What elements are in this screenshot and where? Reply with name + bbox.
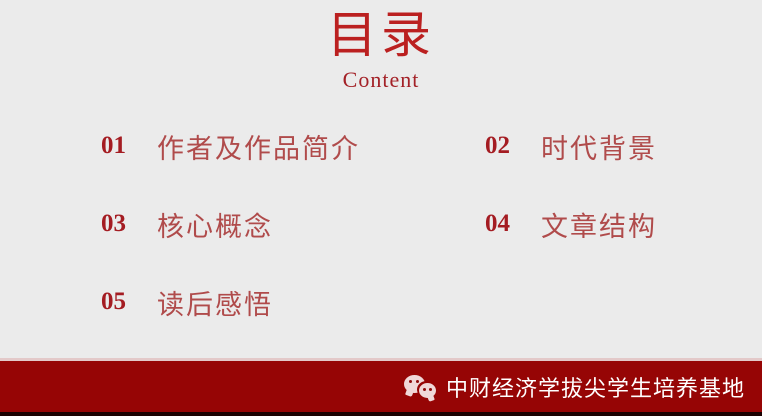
toc-item-number: 01 bbox=[101, 132, 135, 160]
table-of-contents: 01 作者及作品简介 02 时代背景 03 核心概念 04 文章结构 05 读后… bbox=[0, 121, 762, 351]
title-block: 目录 Content bbox=[0, 6, 762, 94]
toc-item-01[interactable]: 01 作者及作品简介 bbox=[0, 121, 382, 171]
footer-bottom-edge bbox=[0, 412, 762, 416]
page-subtitle: Content bbox=[0, 66, 762, 94]
toc-item-number: 03 bbox=[101, 210, 135, 238]
toc-row: 01 作者及作品简介 02 时代背景 bbox=[0, 121, 762, 171]
toc-item-label: 读后感悟 bbox=[157, 283, 273, 322]
toc-item-03[interactable]: 03 核心概念 bbox=[0, 199, 382, 249]
toc-item-04[interactable]: 04 文章结构 bbox=[382, 199, 762, 249]
toc-item-number: 05 bbox=[101, 288, 135, 316]
page-title: 目录 bbox=[0, 6, 762, 64]
footer-account-name: 中财经济学拔尖学生培养基地 bbox=[446, 371, 745, 403]
toc-row: 03 核心概念 04 文章结构 bbox=[0, 199, 762, 249]
toc-item-label: 文章结构 bbox=[541, 205, 657, 244]
toc-item-number: 02 bbox=[485, 132, 519, 160]
toc-item-label: 时代背景 bbox=[541, 127, 657, 166]
wechat-bubble-small bbox=[419, 383, 436, 398]
wechat-eye bbox=[429, 388, 432, 391]
footer-bar: 中财经济学拔尖学生培养基地 bbox=[0, 361, 762, 412]
wechat-icon bbox=[404, 373, 440, 401]
wechat-eye bbox=[409, 380, 412, 383]
toc-item-05[interactable]: 05 读后感悟 bbox=[0, 277, 382, 327]
toc-item-placeholder bbox=[382, 277, 762, 327]
toc-item-label: 核心概念 bbox=[157, 205, 273, 244]
presentation-slide: 目录 Content 01 作者及作品简介 02 时代背景 03 核心概念 04… bbox=[0, 0, 762, 416]
toc-row: 05 读后感悟 bbox=[0, 277, 762, 327]
wechat-eye bbox=[423, 388, 426, 391]
wechat-eye bbox=[416, 380, 419, 383]
toc-item-label: 作者及作品简介 bbox=[157, 127, 360, 166]
toc-item-number: 04 bbox=[485, 210, 519, 238]
toc-item-02[interactable]: 02 时代背景 bbox=[382, 121, 762, 171]
